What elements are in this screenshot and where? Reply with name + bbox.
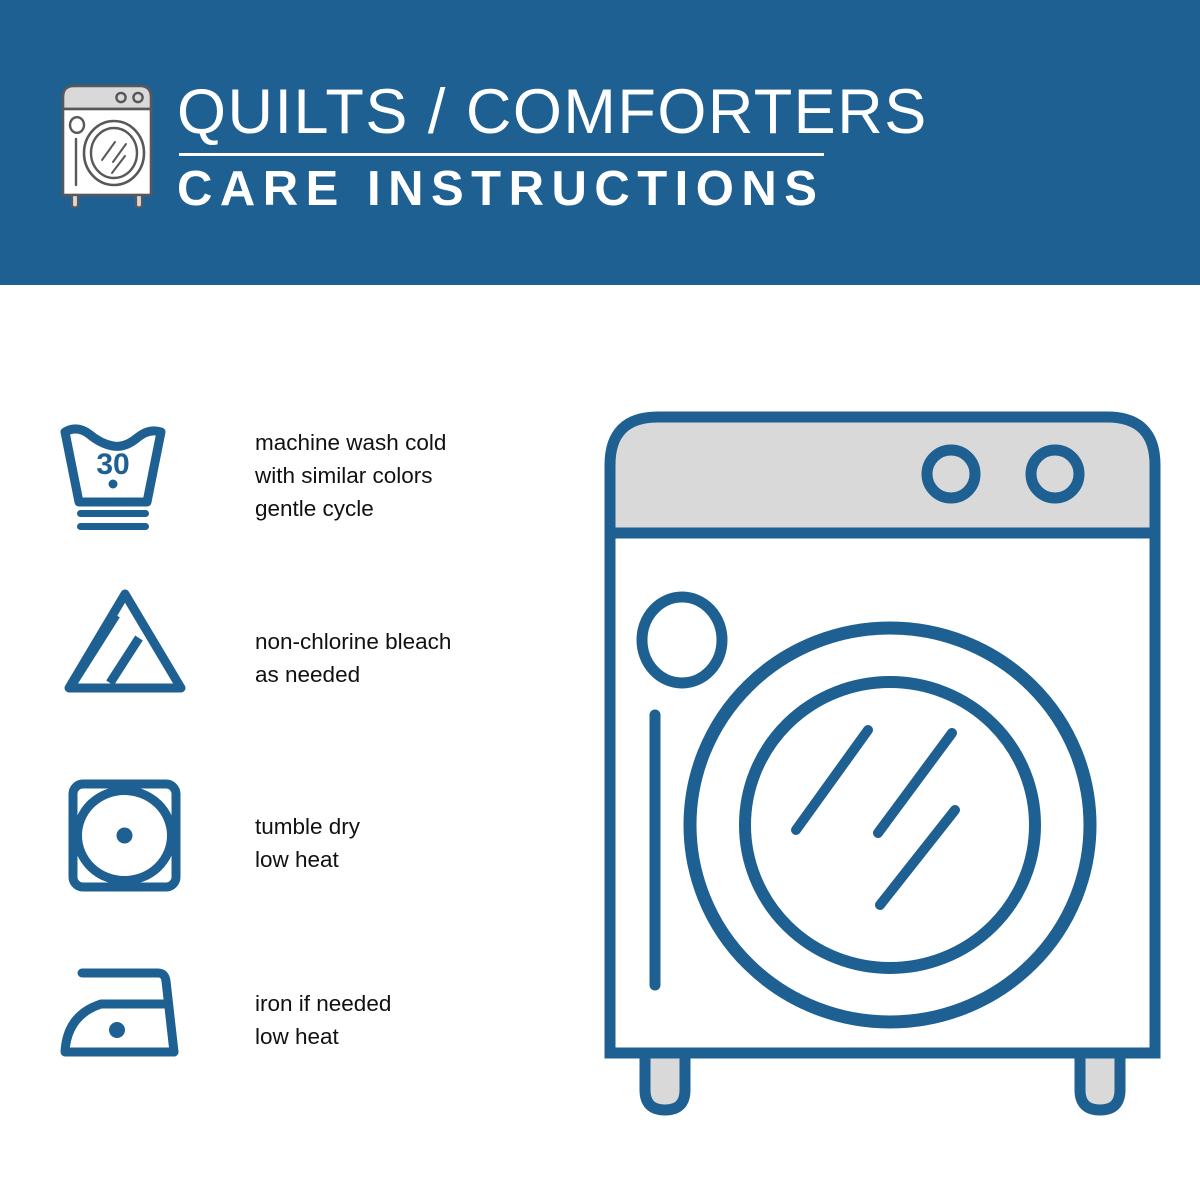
care-row-machine-wash: 30 machine wash cold with similar colors… xyxy=(55,418,535,533)
iron-heat-dot-icon xyxy=(109,1022,125,1038)
title-block: QUILTS / COMFORTERS CARE INSTRUCTIONS xyxy=(177,78,928,215)
wash-dot-icon xyxy=(109,480,118,489)
care-label-line: low heat xyxy=(255,843,360,876)
tumble-dry-icon xyxy=(55,778,205,893)
care-label-line: as needed xyxy=(255,658,451,691)
title-divider xyxy=(179,153,824,156)
care-label-tumble-dry: tumble dry low heat xyxy=(255,810,360,876)
page-title: QUILTS / COMFORTERS xyxy=(177,80,928,144)
care-label-line: with similar colors xyxy=(255,459,446,492)
bleach-triangle-icon xyxy=(55,585,205,700)
header-banner: QUILTS / COMFORTERS CARE INSTRUCTIONS xyxy=(0,0,1200,285)
care-row-bleach: non-chlorine bleach as needed xyxy=(55,585,535,700)
wash-temperature-label: 30 xyxy=(96,448,129,481)
wash-tub-icon: 30 xyxy=(55,418,205,533)
header-content: QUILTS / COMFORTERS CARE INSTRUCTIONS xyxy=(55,78,928,215)
washing-machine-icon xyxy=(55,80,159,208)
leg-right xyxy=(1080,1053,1120,1110)
care-label-machine-wash: machine wash cold with similar colors ge… xyxy=(255,426,446,525)
care-label-iron: iron if needed low heat xyxy=(255,987,391,1053)
care-label-line: low heat xyxy=(255,1020,391,1053)
control-panel xyxy=(610,417,1155,533)
washing-machine-illustration xyxy=(600,405,1165,1120)
care-label-line: non-chlorine bleach xyxy=(255,625,451,658)
care-label-line: gentle cycle xyxy=(255,492,446,525)
leg-left xyxy=(645,1053,685,1110)
page-subtitle: CARE INSTRUCTIONS xyxy=(177,163,928,215)
care-row-tumble-dry: tumble dry low heat xyxy=(55,778,535,893)
gentle-bar-2 xyxy=(77,523,149,530)
care-label-bleach: non-chlorine bleach as needed xyxy=(255,625,451,691)
dry-heat-dot-icon xyxy=(117,828,133,844)
care-label-line: tumble dry xyxy=(255,810,360,843)
iron-icon xyxy=(55,955,205,1070)
care-label-line: iron if needed xyxy=(255,987,391,1020)
care-label-line: machine wash cold xyxy=(255,426,446,459)
care-instructions-infographic: QUILTS / COMFORTERS CARE INSTRUCTIONS 30 xyxy=(0,0,1200,1200)
gentle-bar-1 xyxy=(77,510,149,517)
care-row-iron: iron if needed low heat xyxy=(55,955,535,1070)
